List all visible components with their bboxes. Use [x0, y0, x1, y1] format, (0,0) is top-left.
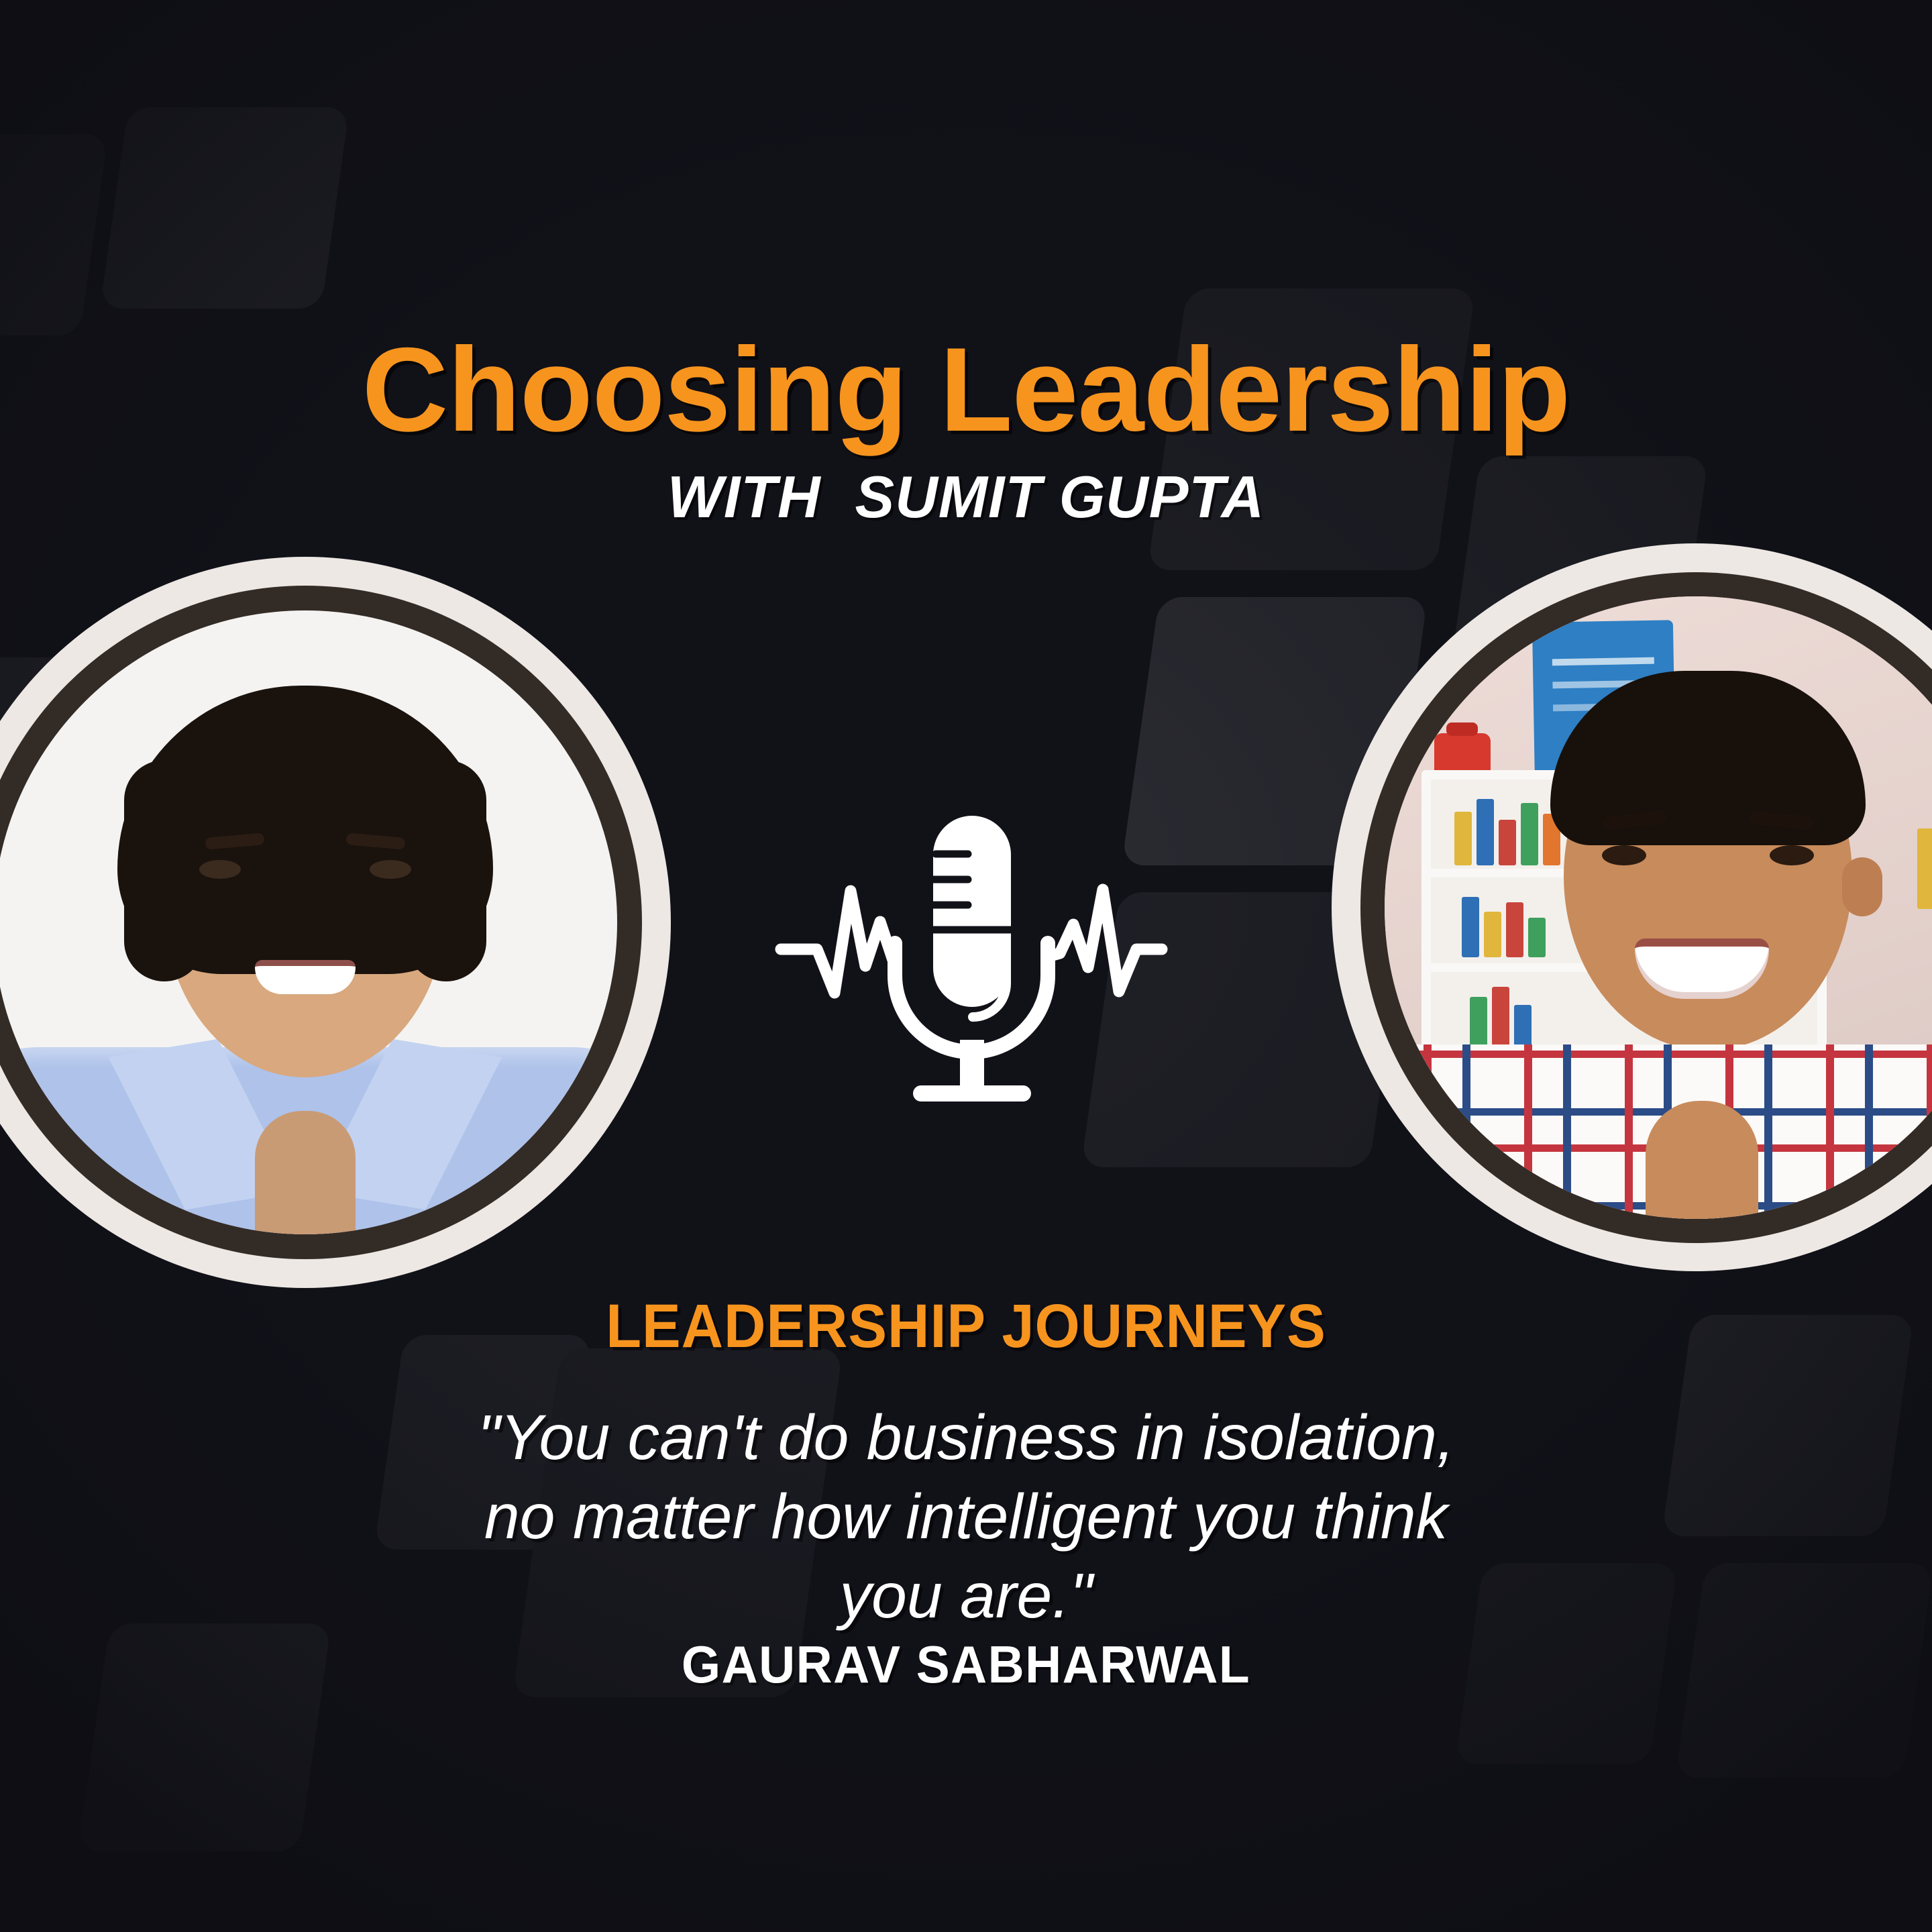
podcast-microphone-icon [770, 790, 1173, 1126]
background-tile [100, 107, 350, 309]
host-photo [0, 610, 617, 1234]
podcast-cover-art: Choosing Leadership WITH SUMIT GUPTA [0, 0, 1932, 1932]
host-avatar-inner-ring [0, 586, 642, 1259]
quote-text: "You can't do business in isolation, no … [221, 1399, 1711, 1635]
page-title: Choosing Leadership [0, 330, 1932, 449]
background-tile [0, 134, 108, 335]
guest-avatar-inner-ring [1360, 572, 1932, 1243]
host-photo-artwork [0, 610, 617, 1234]
host-subtitle: WITH SUMIT GUPTA [0, 463, 1932, 531]
guest-name: GAURAV SABHARWAL [39, 1634, 1894, 1695]
section-label: LEADERSHIP JOURNEYS [58, 1291, 1874, 1362]
guest-avatar [1332, 543, 1932, 1271]
guest-photo [1385, 596, 1932, 1219]
host-avatar [0, 557, 671, 1288]
guest-photo-artwork [1385, 596, 1932, 1219]
